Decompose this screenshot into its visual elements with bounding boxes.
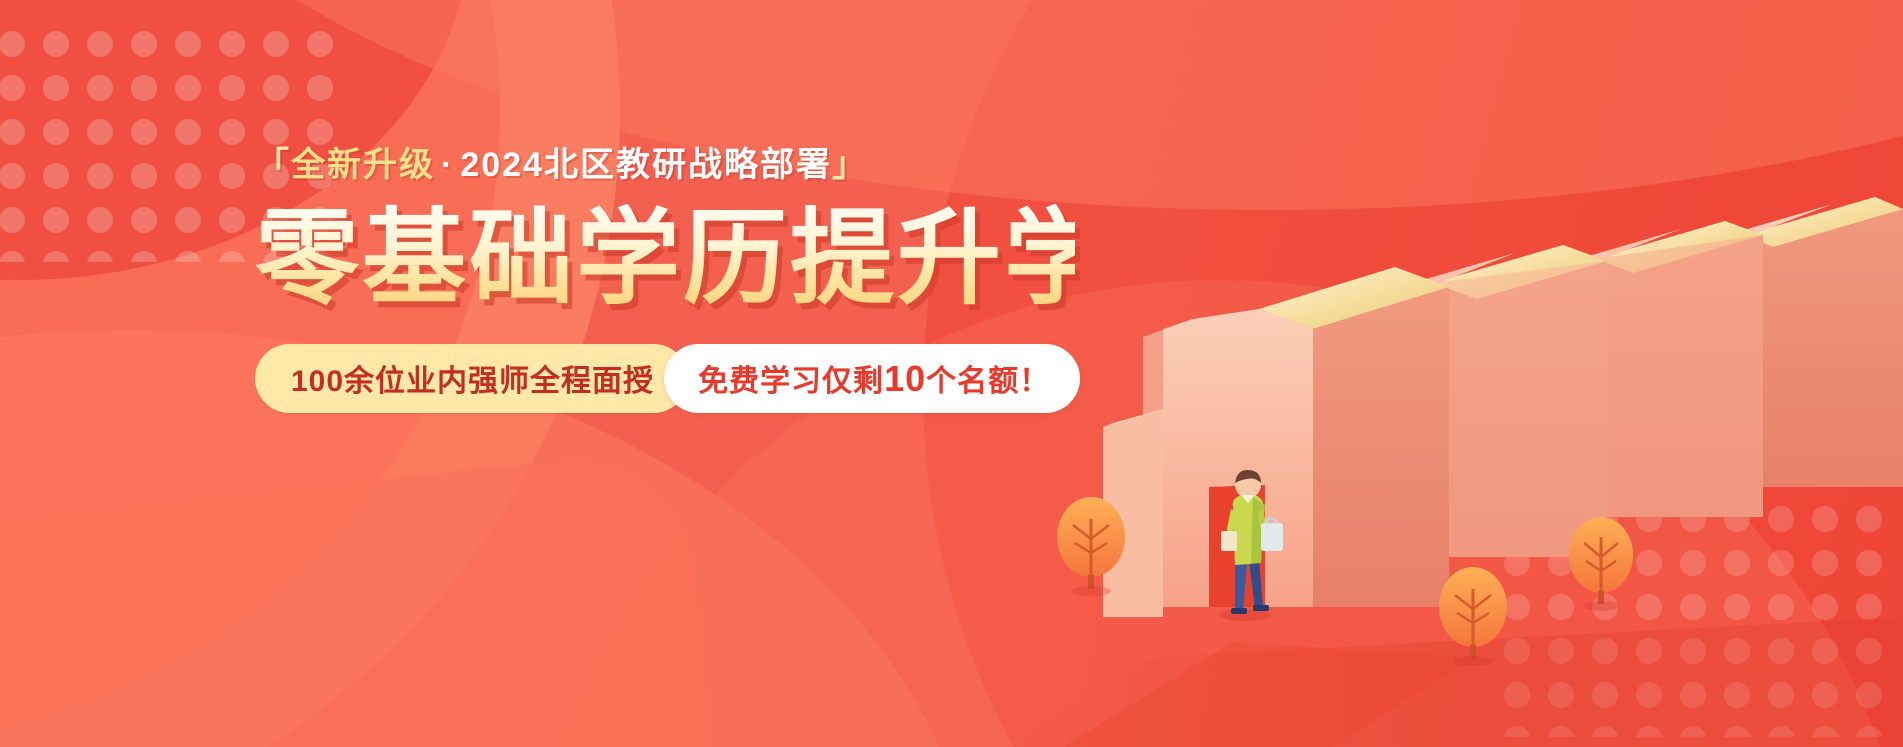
free-slots-prefix: 免费学习仅剩: [698, 365, 884, 398]
eyebrow-separator: ·: [435, 146, 460, 184]
tree-right: [1569, 517, 1633, 611]
teachers-badge: 100余位业内强师全程面授: [255, 344, 688, 413]
book-arch-1: [1103, 267, 1449, 617]
banner-headline: 零基础学历提升学霸班: [255, 204, 1075, 314]
eyebrow-white-text: 2024北区教研战略部署: [460, 146, 832, 184]
banner-pill-row: 100余位业内强师全程面授 免费学习仅剩10个名额！: [255, 344, 1075, 413]
free-slots-badge[interactable]: 免费学习仅剩10个名额！: [664, 344, 1080, 413]
background-wedge-bottom-left: [0, 448, 714, 747]
free-slots-count: 10: [884, 358, 926, 399]
banner-text-block: 「全新升级·2024北区教研战略部署」 零基础学历提升学霸班 100余位业内强师…: [255, 148, 1075, 413]
eyebrow-bracket-close: 」: [832, 146, 868, 184]
promo-banner: 「全新升级·2024北区教研战略部署」 零基础学历提升学霸班 100余位业内强师…: [0, 0, 1903, 747]
eyebrow-bracket-open: 「: [255, 146, 291, 184]
free-slots-suffix: 个名额！: [926, 365, 1050, 398]
banner-eyebrow: 「全新升级·2024北区教研战略部署」: [255, 148, 1075, 182]
eyebrow-gold-text: 全新升级: [291, 146, 435, 184]
